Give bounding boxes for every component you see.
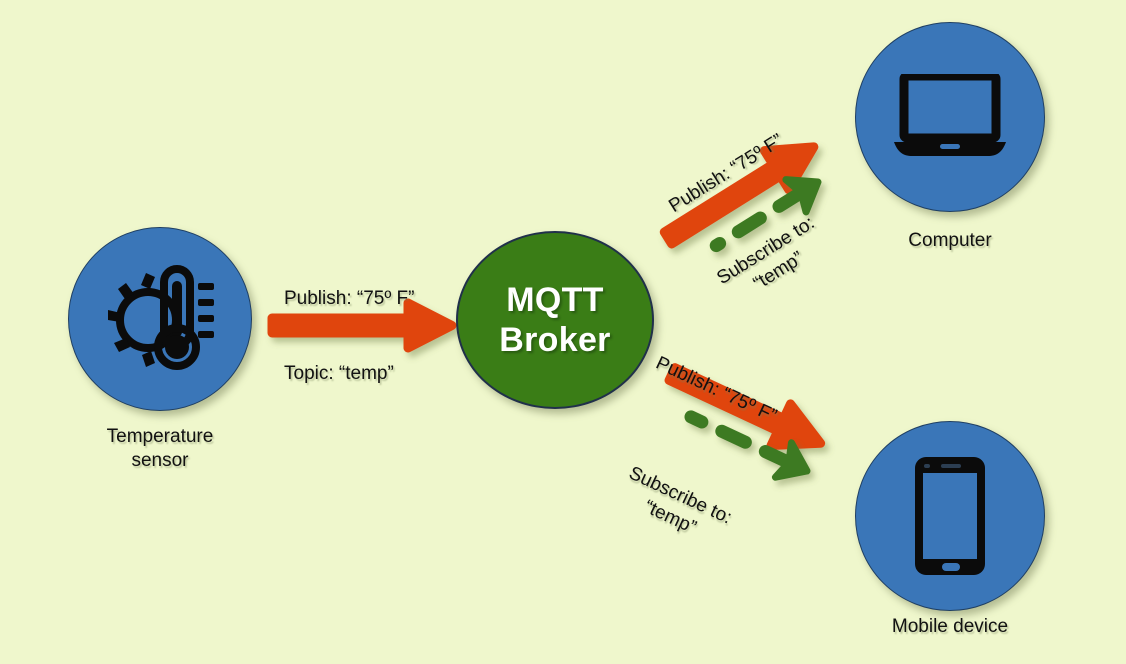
edge-label-publish-sensor: Publish: “75º F” <box>284 263 415 311</box>
node-mqtt-broker[interactable]: MQTT Broker <box>456 231 654 409</box>
smartphone-icon <box>913 455 987 577</box>
node-mobile-device[interactable] <box>855 421 1045 611</box>
node-label-mobile-device: Mobile device <box>850 615 1050 639</box>
node-label-computer: Computer <box>850 229 1050 253</box>
thermometer-sun-icon <box>106 263 214 375</box>
edge-label-topic-sensor: Topic: “temp” <box>284 338 394 386</box>
laptop-icon <box>892 74 1008 160</box>
publish-sensor-text: Publish: “75º F” <box>284 288 415 309</box>
topic-sensor-text: Topic: “temp” <box>284 363 394 384</box>
node-computer[interactable] <box>855 22 1045 212</box>
broker-label: MQTT Broker <box>499 280 610 360</box>
node-label-temperature-sensor: Temperature sensor <box>60 425 260 473</box>
diagram-canvas: Temperature sensor MQTT Broker Computer <box>0 0 1126 664</box>
node-temperature-sensor[interactable] <box>68 227 252 411</box>
